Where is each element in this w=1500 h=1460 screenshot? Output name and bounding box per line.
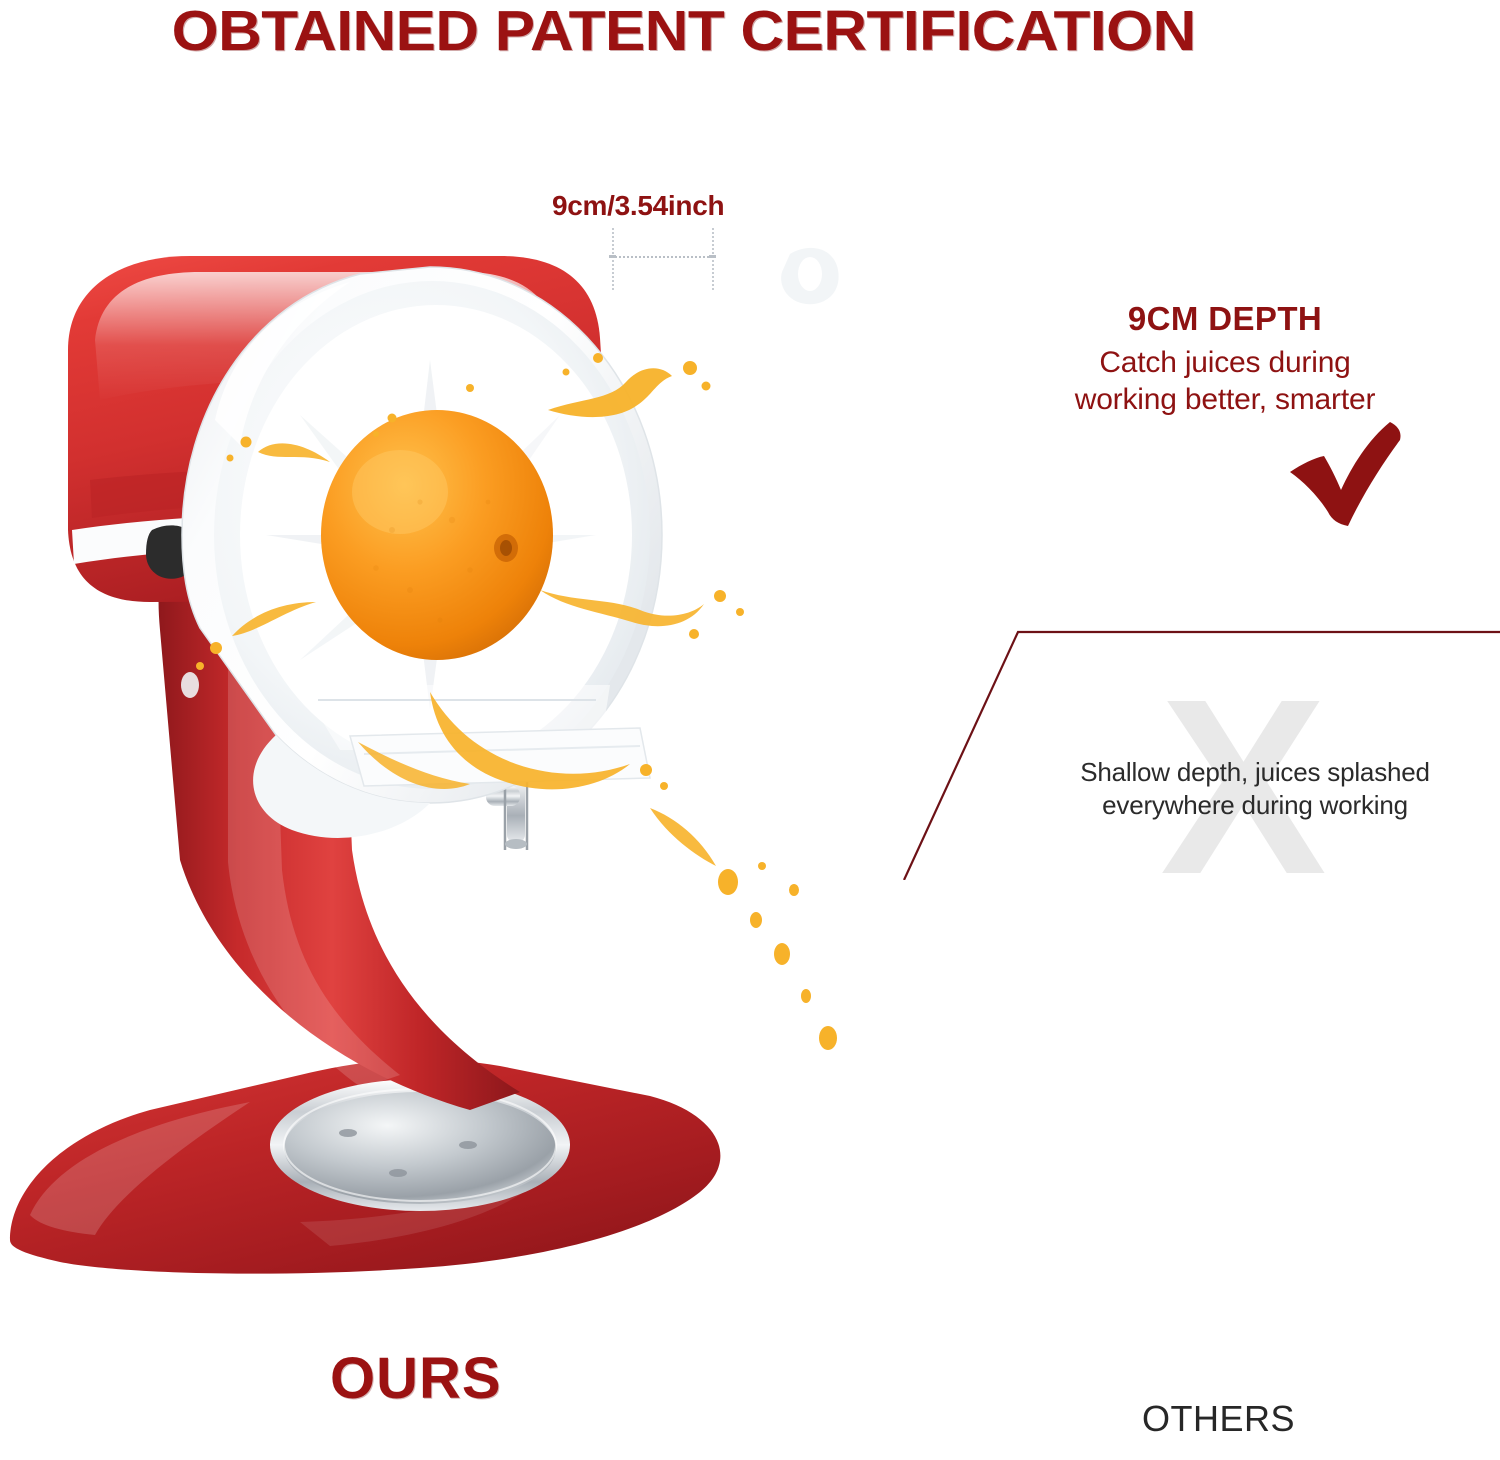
dimension-guide-right: [712, 228, 714, 290]
feature-heading: 9CM DEPTH: [1000, 300, 1450, 338]
others-line-2: everywhere during working: [1030, 789, 1480, 822]
dimension-cap-right: [709, 255, 716, 258]
ours-mixer-illustration: [0, 230, 1000, 1360]
dimension-label: 9cm/3.54inch: [552, 190, 724, 222]
page-title: OBTAINED PATENT CERTIFICATION: [0, 0, 1367, 64]
dimension-guide-left: [612, 228, 614, 290]
infographic-canvas: OBTAINED PATENT CERTIFICATION: [0, 0, 1500, 1460]
orange-fruit: [321, 410, 553, 660]
feature-line-2: working better, smarter: [1000, 381, 1450, 418]
check-mark-icon: [1286, 420, 1406, 528]
ours-feature-callout: 9CM DEPTH Catch juices during working be…: [1000, 300, 1450, 418]
dimension-cap-left: [609, 255, 616, 258]
others-line-1: Shallow depth, juices splashed: [1030, 756, 1480, 789]
dimension-measure-line: [612, 256, 713, 258]
feature-line-1: Catch juices during: [1000, 344, 1450, 381]
label-ours: OURS: [330, 1345, 502, 1412]
others-feature-callout: Shallow depth, juices splashed everywher…: [1030, 756, 1480, 822]
label-others: OTHERS: [1142, 1398, 1295, 1440]
